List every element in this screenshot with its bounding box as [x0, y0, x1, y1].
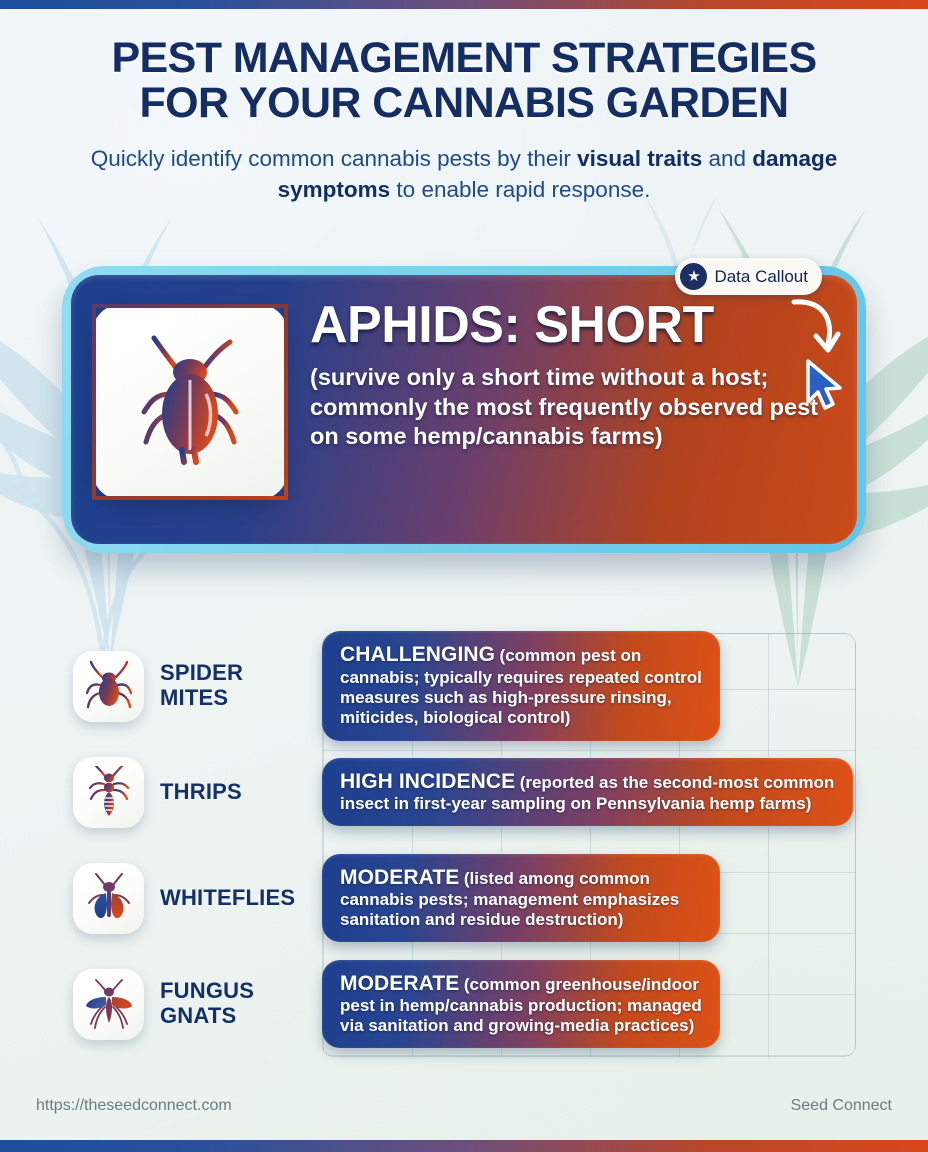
- footer-brand: Seed Connect: [791, 1097, 892, 1115]
- pest-level-3: MODERATE: [340, 972, 459, 995]
- pest-bar-2[interactable]: MODERATE (listed among common cannabis p…: [322, 854, 720, 943]
- table-row[interactable]: WHITEFLIES MODERATE (listed among common…: [0, 845, 928, 951]
- subtitle-part-3: to enable rapid response.: [390, 177, 650, 202]
- pest-row-label-group-0: SPIDERMITES: [0, 651, 322, 722]
- hero-callout-card[interactable]: APHIDS: SHORT (survive only a short time…: [62, 266, 866, 553]
- subtitle-highlight-1: visual traits: [577, 146, 702, 171]
- pest-name-3: FUNGUSGNATS: [160, 979, 254, 1028]
- pest-name-1: THRIPS: [160, 780, 242, 805]
- beetle-icon: [126, 332, 254, 472]
- fungus-gnat-icon: [85, 979, 133, 1029]
- pest-name-2: WHITEFLIES: [160, 886, 295, 911]
- pest-level-2: MODERATE: [340, 866, 459, 889]
- pest-row-label-group-2: WHITEFLIES: [0, 863, 322, 934]
- hero-icon-tile: [92, 304, 288, 500]
- whitefly-icon: [86, 873, 132, 923]
- pest-icon-tile-1: [73, 757, 144, 828]
- top-accent-bar: [0, 0, 928, 9]
- subtitle-part-2: and: [702, 146, 752, 171]
- pest-bar-0[interactable]: CHALLENGING (common pest on cannabis; ty…: [322, 631, 720, 740]
- star-icon: ★: [680, 263, 707, 290]
- pest-icon-tile-2: [73, 863, 144, 934]
- bottom-accent-bar: [0, 1140, 928, 1152]
- poster-footer: https://theseedconnect.com Seed Connect: [0, 1072, 928, 1140]
- curved-arrow-icon: [788, 290, 844, 366]
- pest-icon-tile-3: [73, 969, 144, 1040]
- pest-row-label-group-1: THRIPS: [0, 757, 322, 828]
- pest-level-1: HIGH INCIDENCE: [340, 770, 515, 793]
- thrips-icon: [87, 766, 131, 818]
- footer-url[interactable]: https://theseedconnect.com: [36, 1097, 232, 1115]
- hero-card-body: APHIDS: SHORT (survive only a short time…: [71, 275, 857, 544]
- infographic-poster: PEST MANAGEMENT STRATEGIES FOR YOUR CANN…: [0, 0, 928, 1152]
- page-title: PEST MANAGEMENT STRATEGIES FOR YOUR CANN…: [0, 36, 928, 125]
- subtitle-part-1: Quickly identify common cannabis pests b…: [91, 146, 577, 171]
- pest-name-0: SPIDERMITES: [160, 661, 243, 710]
- table-row[interactable]: FUNGUSGNATS MODERATE (common greenhouse/…: [0, 951, 928, 1057]
- table-row[interactable]: THRIPS HIGH INCIDENCE (reported as the s…: [0, 739, 928, 845]
- pest-bar-3[interactable]: MODERATE (common greenhouse/indoor pest …: [322, 960, 720, 1049]
- table-row[interactable]: SPIDERMITES CHALLENGING (common pest on …: [0, 633, 928, 739]
- pest-row-label-group-3: FUNGUSGNATS: [0, 969, 322, 1040]
- data-callout-label: Data Callout: [714, 267, 808, 287]
- pest-level-0: CHALLENGING: [340, 643, 495, 666]
- pest-bar-1[interactable]: HIGH INCIDENCE (reported as the second-m…: [322, 758, 853, 827]
- mouse-cursor-icon[interactable]: [802, 358, 846, 412]
- hero-text-block: APHIDS: SHORT (survive only a short time…: [288, 295, 831, 452]
- pest-icon-tile-0: [73, 651, 144, 722]
- title-line-2: FOR YOUR CANNABIS GARDEN: [140, 79, 789, 127]
- title-line-1: PEST MANAGEMENT STRATEGIES: [111, 34, 816, 82]
- poster-header: PEST MANAGEMENT STRATEGIES FOR YOUR CANN…: [0, 0, 928, 206]
- hero-headline: APHIDS: SHORT: [310, 299, 831, 351]
- spider-mite-icon: [86, 661, 132, 711]
- hero-detail-text: (survive only a short time without a hos…: [310, 363, 831, 452]
- pest-rows-list: SPIDERMITES CHALLENGING (common pest on …: [0, 633, 928, 1057]
- page-subtitle: Quickly identify common cannabis pests b…: [69, 143, 859, 205]
